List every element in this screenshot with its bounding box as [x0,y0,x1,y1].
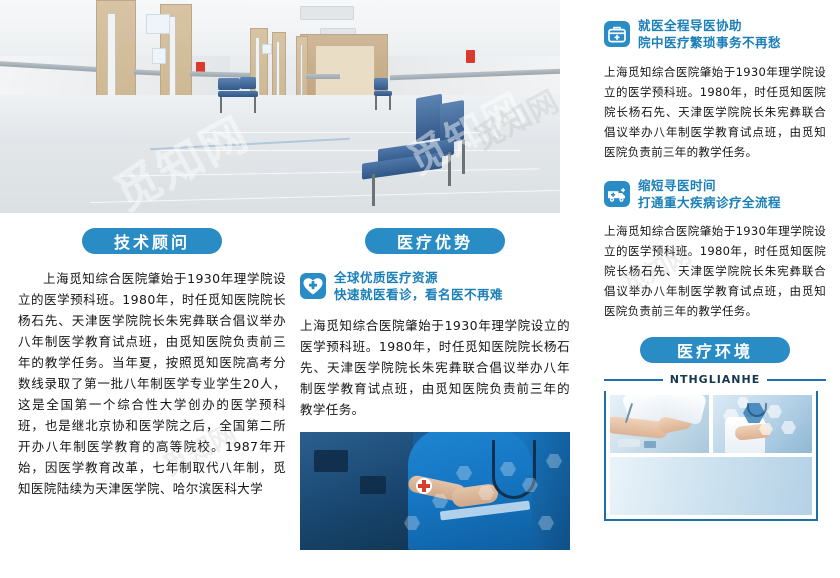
middle-column-body: 上海觅知综合医院肇始于1930年理学院设立的医学预科班。1980年，时任觅知医院… [300,315,570,420]
ceiling-strip [244,0,364,4]
env-photo-doctor-icons [610,457,812,515]
fire-alarm-icon [466,50,475,63]
medical-kit-icon [604,21,630,47]
brochure-page: 觅知网 觅知网 技术顾问 上海觅知综合医院肇始于1930年理学院设立的医学预科班… [0,0,840,578]
env-photo-blood-pressure [610,395,709,453]
right-block-1-body: 上海觅知综合医院肇始于1930年理学院设立的医学预科班。1980年，时任觅知医院… [604,62,826,162]
monitor-shape [360,476,386,494]
divider-right [767,379,826,381]
badge-medical-advantage: 医疗优势 [365,228,505,254]
left-column-body: 上海觅知综合医院肇始于1930年理学院设立的医学预科班。1980年，时任觅知医院… [18,268,286,499]
right-block-2-body: 上海觅知综合医院肇始于1930年理学院设立的医学预科班。1980年，时任觅知医院… [604,221,826,321]
ceiling-panel [300,6,354,20]
heart-plus-icon [300,273,326,299]
hero-corridor-photo: 觅知网 觅知网 [0,0,560,213]
badge-medical-environment: 医疗环境 [640,337,790,363]
right-block-1: 就医全程导医协助 院中医疗繁琐事务不再愁 上海觅知综合医院肇始于1930年理学院… [604,18,826,162]
environment-label: NTHGLIANHE [670,373,761,386]
feature-line-2: 快速就医看诊，看名医不再难 [334,287,503,302]
environment-image-box: 觅知网 [604,391,818,521]
environment-image-row [610,395,812,453]
badge-tech-advisor: 技术顾问 [82,228,222,254]
feature-fast-treatment: 缩短寻医时间 打通重大疾病诊疗全流程 [604,178,826,210]
feature-line-2: 院中医疗繁琐事务不再愁 [638,35,781,50]
hex-icon [538,516,554,530]
wall-sign [262,44,272,54]
feature-line-1: 就医全程导医协助 [638,18,781,33]
monitor-shape [314,450,348,472]
middle-column: 医疗优势 全球优质医疗资源 快速就医看诊，看名医不再难 上海觅知综合医院肇始于1… [300,228,570,550]
divider-left [604,379,663,381]
feature-global-resources: 全球优质医疗资源 快速就医看诊，看名医不再难 [300,270,570,302]
wall-sign [152,48,166,64]
ambulance-icon [604,181,630,207]
right-block-2: 缩短寻医时间 打通重大疾病诊疗全流程 上海觅知综合医院肇始于1930年理学院设立… [604,178,826,322]
feature-line-2: 打通重大疾病诊疗全流程 [638,195,781,210]
env-photo-medical-care [713,395,812,453]
middle-column-photo [300,432,570,550]
corridor-handrail [306,74,340,79]
right-column: 就医全程导医协助 院中医疗繁琐事务不再愁 上海觅知综合医院肇始于1930年理学院… [604,18,826,521]
environment-label-row: NTHGLIANHE [604,373,826,386]
image-watermark: 觅知网 [750,0,836,15]
feature-guide-service: 就医全程导医协助 院中医疗繁琐事务不再愁 [604,18,826,50]
left-column: 技术顾问 上海觅知综合医院肇始于1930年理学院设立的医学预科班。1980年，时… [18,228,286,512]
feature-line-1: 全球优质医疗资源 [334,270,503,285]
wall-sign [146,14,170,34]
feature-line-1: 缩短寻医时间 [638,178,781,193]
red-cross-icon [416,478,432,494]
hex-icon [546,454,562,468]
